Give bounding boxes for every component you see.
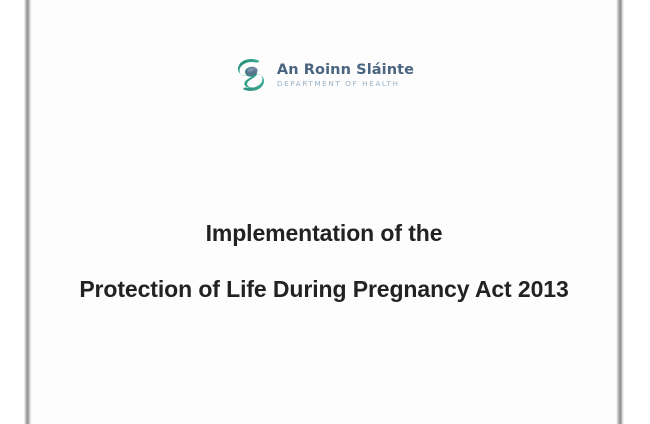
document-title-line-2: Protection of Life During Pregnancy Act … [32, 276, 616, 303]
department-of-health-swirl-emblem-icon [234, 54, 268, 96]
page-edge-right [616, 0, 624, 424]
document-title-line-1: Implementation of the [32, 220, 616, 247]
page-surround-left [0, 0, 24, 424]
logo-subtitle-english: DEPARTMENT OF HEALTH [277, 80, 414, 87]
document-page: An Roinn Sláinte DEPARTMENT OF HEALTH Im… [32, 0, 616, 424]
logo-text-block: An Roinn Sláinte DEPARTMENT OF HEALTH [277, 63, 414, 88]
logo-title-irish: An Roinn Sláinte [277, 63, 414, 78]
page-edge-left [24, 0, 32, 424]
document-viewport: An Roinn Sláinte DEPARTMENT OF HEALTH Im… [0, 0, 650, 424]
page-surround-right [624, 0, 650, 424]
department-of-health-logo: An Roinn Sláinte DEPARTMENT OF HEALTH [32, 54, 616, 96]
